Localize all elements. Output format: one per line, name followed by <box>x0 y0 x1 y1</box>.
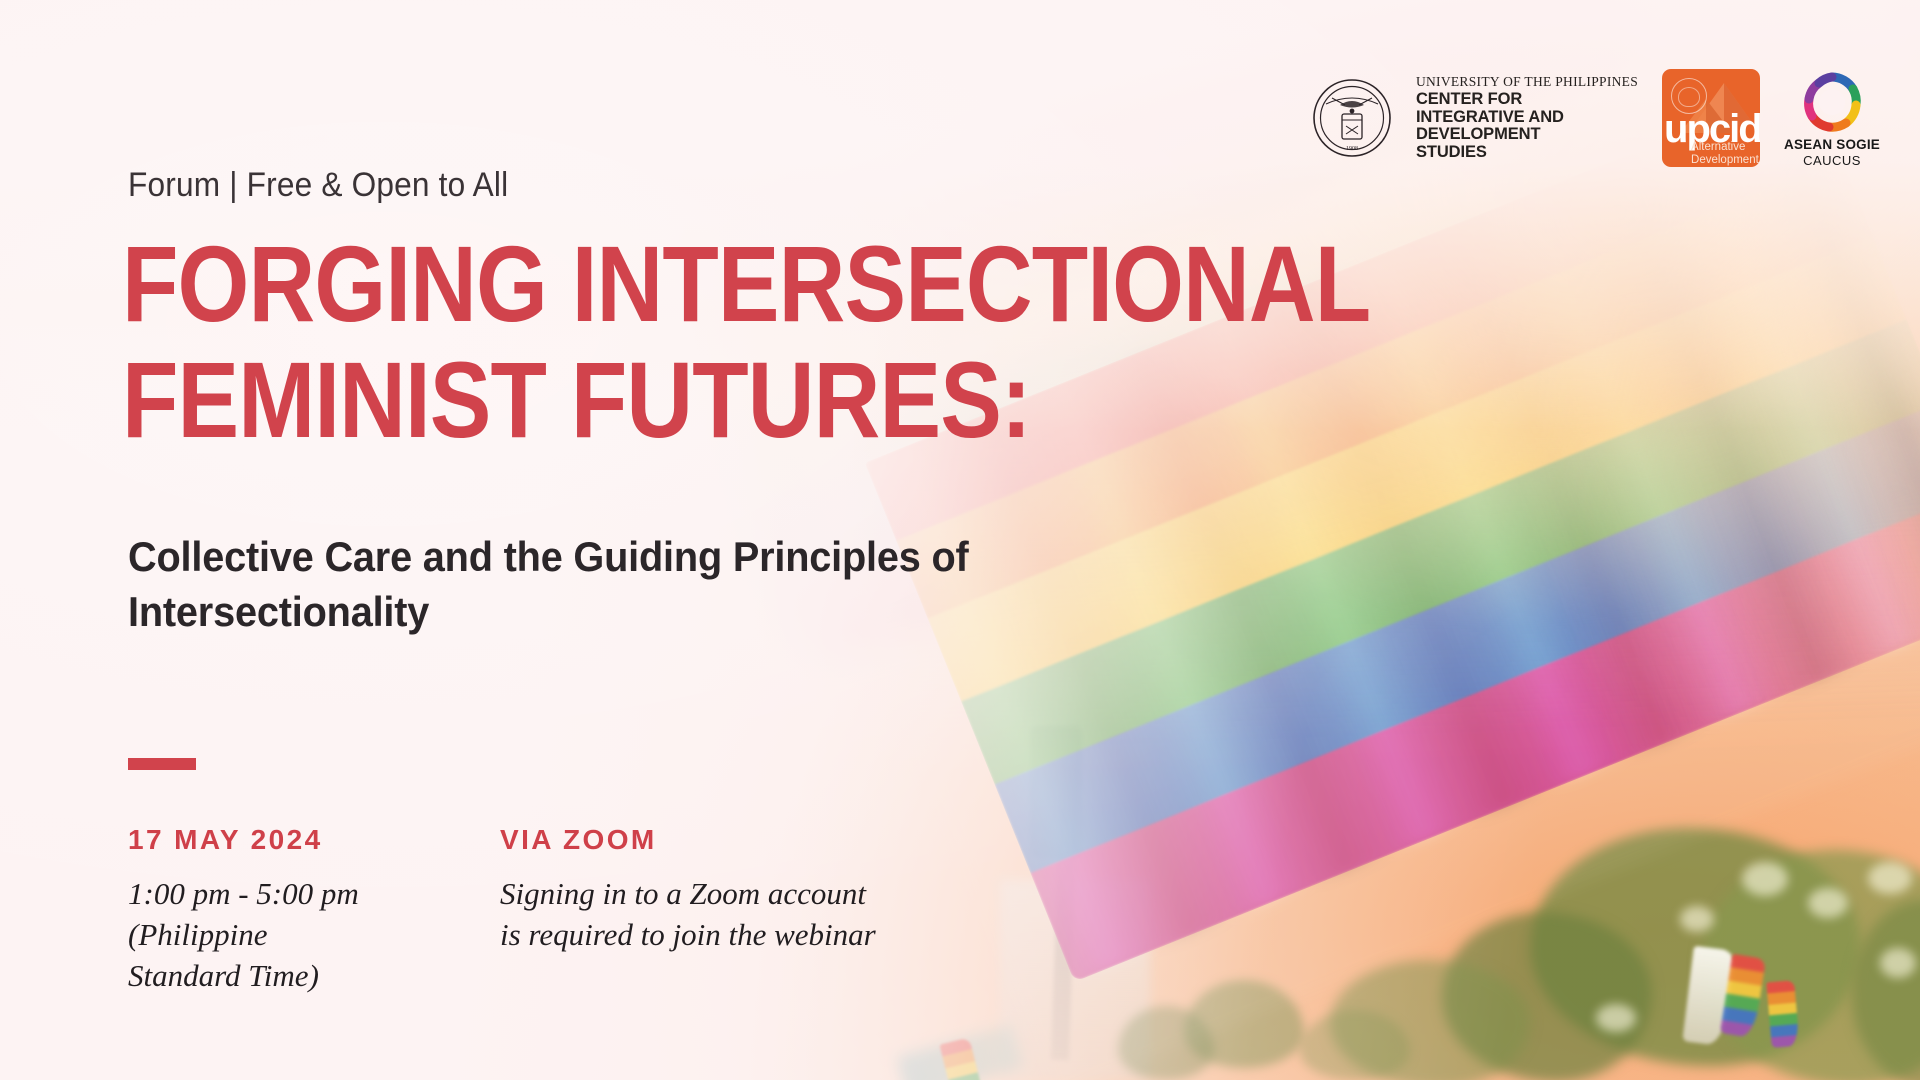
page-title: FORGING INTERSECTIONAL FEMINIST FUTURES: <box>122 232 1562 451</box>
asean-sogie-name: ASEAN SOGIE <box>1784 138 1880 152</box>
rainbow-swirl-icon <box>1799 69 1865 135</box>
event-date-block: 17 MAY 2024 1:00 pm - 5:00 pm (Philippin… <box>128 826 500 997</box>
event-time-line-2: (Philippine <box>128 914 500 955</box>
event-venue-note-line-2: is required to join the webinar <box>500 914 1060 955</box>
event-venue-note-line-1: Signing in to a Zoom account <box>500 873 1060 914</box>
event-time: 1:00 pm - 5:00 pm (Philippine Standard T… <box>128 873 500 997</box>
up-cids-organization: UNIVERSITY OF THE PHILIPPINES <box>1416 75 1638 89</box>
up-cids-name-2: INTEGRATIVE AND <box>1416 109 1638 126</box>
up-cids-name-1: CENTER FOR <box>1416 91 1638 108</box>
subtitle-line-1: Collective Care and the Guiding Principl… <box>128 530 1243 585</box>
event-kicker: Forum | Free & Open to All <box>128 166 508 205</box>
asean-sogie-caucus-logo: ASEAN SOGIE CAUCUS <box>1784 69 1880 168</box>
upcids-program-line-1: Alternative <box>1691 141 1756 154</box>
event-poster: 1908 UNIVERSITY OF THE PHILIPPINES CENTE… <box>0 0 1920 1080</box>
event-venue: VIA ZOOM <box>500 826 1060 854</box>
upcids-program: Alternative Development <box>1691 141 1756 167</box>
upcids-alternative-development-logo: upcids Alternative Development <box>1662 69 1760 167</box>
subtitle-line-2: Intersectionality <box>128 585 1243 640</box>
event-date: 17 MAY 2024 <box>128 826 500 854</box>
headline-line-2: FEMINIST FUTURES: <box>122 348 1353 452</box>
up-cids-wordmark: UNIVERSITY OF THE PHILIPPINES CENTER FOR… <box>1416 75 1638 161</box>
partner-logo-bar: 1908 UNIVERSITY OF THE PHILIPPINES CENTE… <box>1312 64 1880 172</box>
upcids-program-line-2: Development <box>1691 154 1756 167</box>
event-venue-block: VIA ZOOM Signing in to a Zoom account is… <box>500 826 1060 997</box>
event-time-line-1: 1:00 pm - 5:00 pm <box>128 873 500 914</box>
asean-sogie-caucus: CAUCUS <box>1803 154 1861 167</box>
up-cids-name-4: STUDIES <box>1416 144 1638 161</box>
event-details: 17 MAY 2024 1:00 pm - 5:00 pm (Philippin… <box>128 826 1060 997</box>
svg-text:1908: 1908 <box>1346 146 1358 152</box>
page-subtitle: Collective Care and the Guiding Principl… <box>128 530 1308 639</box>
up-cids-name-3: DEVELOPMENT <box>1416 126 1638 143</box>
accent-rule <box>128 758 196 770</box>
event-venue-note: Signing in to a Zoom account is required… <box>500 873 1060 955</box>
headline-line-1: FORGING INTERSECTIONAL <box>122 232 1353 336</box>
event-time-line-3: Standard Time) <box>128 955 500 996</box>
up-seal-icon: 1908 <box>1312 78 1392 158</box>
